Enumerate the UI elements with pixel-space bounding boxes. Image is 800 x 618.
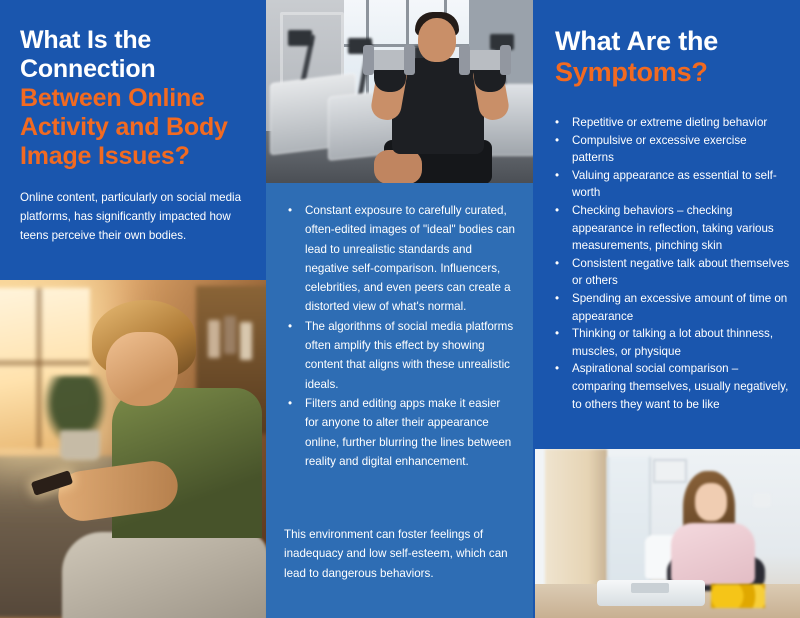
list-item-text: Filters and editing apps make it easier …: [305, 397, 511, 468]
left-heading-line-2: Connection: [20, 55, 252, 84]
man-lifting-dumbbells-gym-photo: [266, 0, 533, 183]
list-item-text: Aspirational social comparison – compari…: [572, 362, 788, 410]
right-heading-line-1: What Are the: [555, 26, 793, 57]
infographic-page: What Is the Connection Between Online Ac…: [0, 0, 800, 618]
photo-door-frame: [545, 449, 607, 601]
list-item: • Valuing appearance as essential to sel…: [551, 167, 791, 202]
right-panel-heading: What Are the Symptoms?: [555, 26, 793, 89]
list-item: • Constant exposure to carefully curated…: [284, 201, 516, 317]
bullet-icon: •: [288, 201, 292, 220]
bullet-icon: •: [555, 290, 559, 308]
bullet-icon: •: [555, 132, 559, 150]
list-item-text: Compulsive or excessive exercise pattern…: [572, 134, 747, 165]
list-item: • Aspirational social comparison – compa…: [551, 360, 791, 413]
list-item: • Consistent negative talk about themsel…: [551, 255, 791, 290]
photo-machine-console: [288, 30, 312, 46]
photo-tape-measure: [711, 584, 765, 608]
photo-book-shape: [240, 322, 252, 360]
center-panel-bullet-list: • Constant exposure to carefully curated…: [284, 201, 516, 471]
bullet-icon: •: [555, 167, 559, 185]
bullet-icon: •: [555, 114, 559, 132]
photo-plant-shape: [38, 376, 112, 454]
bullet-icon: •: [288, 317, 292, 336]
photo-book-shape: [224, 316, 236, 354]
left-panel-heading: What Is the Connection Between Online Ac…: [20, 26, 252, 171]
list-item-text: Thinking or talking a lot about thinness…: [572, 327, 773, 358]
list-item-text: Checking behaviors – checking appearance…: [572, 204, 774, 252]
photo-teen-face: [106, 332, 178, 406]
photo-dumbbell-right: [462, 50, 508, 70]
list-item: • Thinking or talking a lot about thinne…: [551, 325, 791, 360]
list-item-text: Constant exposure to carefully curated, …: [305, 204, 515, 313]
photo-book-shape: [208, 320, 220, 358]
photo-bathroom-scale: [597, 580, 705, 606]
photo-dumbbell-left: [366, 50, 412, 70]
left-heading-line-3: Between Online: [20, 84, 252, 113]
list-item: • Compulsive or excessive exercise patte…: [551, 132, 791, 167]
bullet-icon: •: [555, 255, 559, 273]
left-panel-intro-paragraph: Online content, particularly on social m…: [20, 188, 242, 246]
list-item: • Checking behaviors – checking appearan…: [551, 202, 791, 255]
teen-boy-on-phone-photo: [0, 280, 266, 618]
bullet-icon: •: [555, 202, 559, 220]
left-heading-line-5: Image Issues?: [20, 142, 252, 171]
photo-lifter-head: [418, 18, 456, 62]
photo-lifter-thigh: [374, 150, 422, 183]
left-heading-line-1: What Is the: [20, 26, 252, 55]
bullet-icon: •: [555, 360, 559, 378]
girl-with-bathroom-scale-photo: [535, 449, 800, 618]
photo-wall-outlet: [753, 493, 771, 507]
list-item: • Repetitive or extreme dieting behavior: [551, 114, 791, 132]
center-panel-closing-paragraph: This environment can foster feelings of …: [284, 525, 512, 583]
list-item-text: Valuing appearance as essential to self-…: [572, 169, 777, 200]
list-item-text: Consistent negative talk about themselve…: [572, 257, 789, 288]
photo-girl-hoodie: [671, 523, 755, 585]
right-panel-bullet-list: • Repetitive or extreme dieting behavior…: [551, 114, 791, 413]
window-mullion-horizontal: [0, 360, 90, 366]
bullet-icon: •: [288, 394, 292, 413]
left-heading-line-4: Activity and Body: [20, 113, 252, 142]
list-item: • Spending an excessive amount of time o…: [551, 290, 791, 325]
list-item: • The algorithms of social media platfor…: [284, 317, 516, 394]
list-item-text: Spending an excessive amount of time on …: [572, 292, 787, 323]
list-item: • Filters and editing apps make it easie…: [284, 394, 516, 471]
photo-teen-legs: [62, 532, 266, 618]
list-item-text: Repetitive or extreme dieting behavior: [572, 116, 767, 129]
photo-wall-frame: [653, 459, 687, 483]
photo-girl-face: [695, 483, 727, 521]
right-heading-line-2: Symptoms?: [555, 57, 793, 88]
list-item-text: The algorithms of social media platforms…: [305, 320, 513, 391]
bullet-icon: •: [555, 325, 559, 343]
